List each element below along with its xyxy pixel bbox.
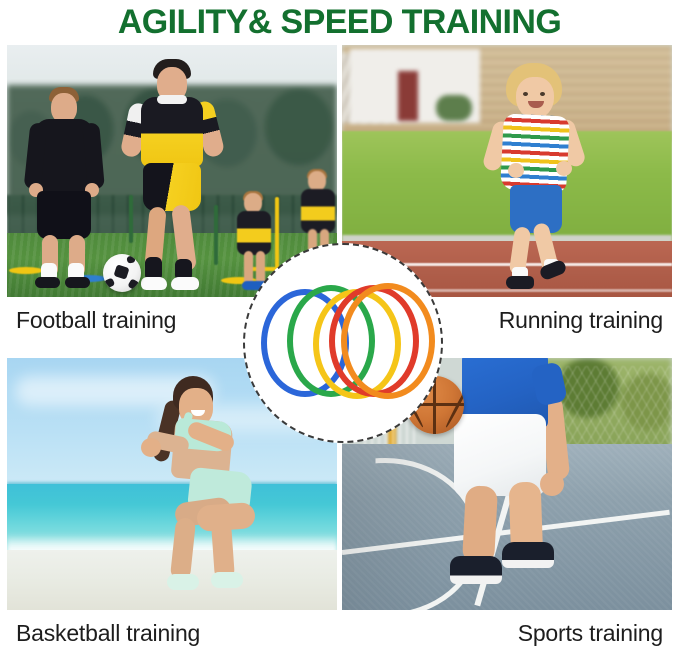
coach-figure: [25, 87, 107, 287]
product-infographic: AGILITY& SPEED TRAINING: [0, 0, 679, 653]
caption-basketball: Basketball training: [7, 611, 337, 653]
caption-sports: Sports training: [342, 611, 672, 653]
building-door: [398, 71, 418, 121]
soccer-ball-icon: [103, 254, 141, 292]
soccer-player-figure: [119, 59, 229, 291]
agility-rings-badge: [243, 243, 443, 443]
ring-orange-icon: [341, 283, 435, 399]
shrub: [436, 95, 472, 121]
page-title: AGILITY& SPEED TRAINING: [0, 2, 679, 42]
running-child-figure: [482, 63, 594, 291]
agility-rings-group: [245, 245, 445, 445]
